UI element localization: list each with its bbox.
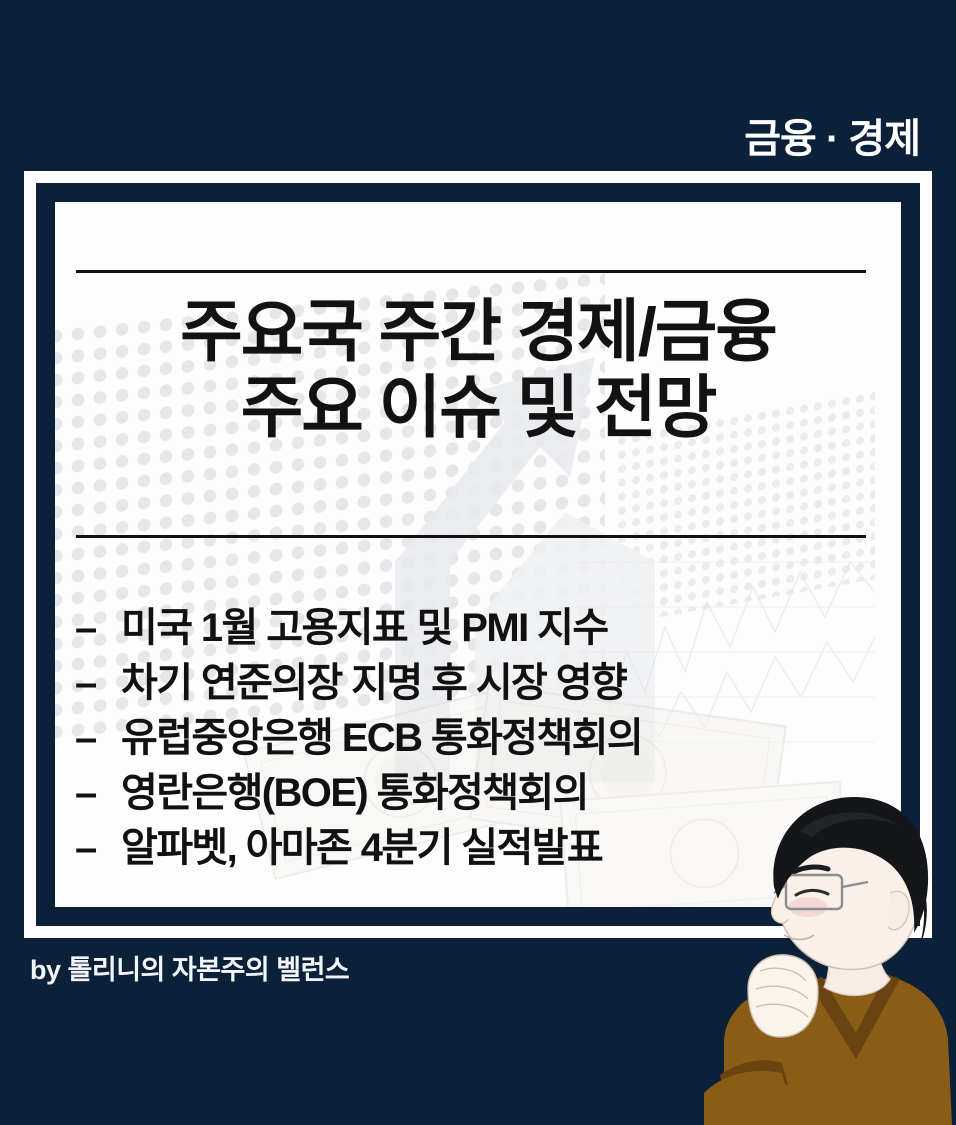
outer-white-frame: 주요국 주간 경제/금융 주요 이슈 및 전망 – 미국 1월 고용지표 및 P… [24, 171, 932, 938]
inner-navy-frame: 주요국 주간 경제/금융 주요 이슈 및 전망 – 미국 1월 고용지표 및 P… [36, 183, 920, 926]
title-line-1: 주요국 주간 경제/금융 [55, 294, 901, 370]
list-item: – 영란은행(BOE) 통화정책회의 [75, 760, 895, 815]
list-item-label: 영란은행(BOE) 통화정책회의 [121, 760, 588, 818]
poster-root: 금융 · 경제 [0, 0, 956, 1125]
header-band: 금융 · 경제 [0, 0, 956, 171]
author-credit: by 톨리니의 자본주의 벨런스 [30, 948, 349, 987]
dash-marker-icon: – [75, 606, 121, 651]
poster-title: 주요국 주간 경제/금융 주요 이슈 및 전망 [55, 294, 901, 446]
category-label: 금융 · 경제 [744, 119, 920, 159]
topic-list: – 미국 1월 고용지표 및 PMI 지수 – 차기 연준의장 지명 후 시장 … [75, 595, 895, 870]
list-item-label: 유럽중앙은행 ECB 통화정책회의 [121, 705, 642, 763]
dash-marker-icon: – [75, 716, 121, 761]
list-item-label: 미국 1월 고용지표 및 PMI 지수 [121, 595, 608, 653]
dash-marker-icon: – [75, 771, 121, 816]
dash-marker-icon: – [75, 661, 121, 706]
card-content: 주요국 주간 경제/금융 주요 이슈 및 전망 – 미국 1월 고용지표 및 P… [55, 202, 901, 907]
content-card: 주요국 주간 경제/금융 주요 이슈 및 전망 – 미국 1월 고용지표 및 P… [55, 202, 901, 907]
list-item: – 알파벳, 아마존 4분기 실적발표 [75, 815, 895, 870]
list-item: – 차기 연준의장 지명 후 시장 영향 [75, 650, 895, 705]
dash-marker-icon: – [75, 826, 121, 871]
title-line-2: 주요 이슈 및 전망 [55, 370, 901, 446]
divider-middle [76, 535, 866, 538]
list-item-label: 차기 연준의장 지명 후 시장 영향 [121, 650, 626, 708]
list-item: – 미국 1월 고용지표 및 PMI 지수 [75, 595, 895, 650]
list-item-label: 알파벳, 아마존 4분기 실적발표 [121, 815, 602, 873]
divider-top [76, 270, 866, 273]
list-item: – 유럽중앙은행 ECB 통화정책회의 [75, 705, 895, 760]
